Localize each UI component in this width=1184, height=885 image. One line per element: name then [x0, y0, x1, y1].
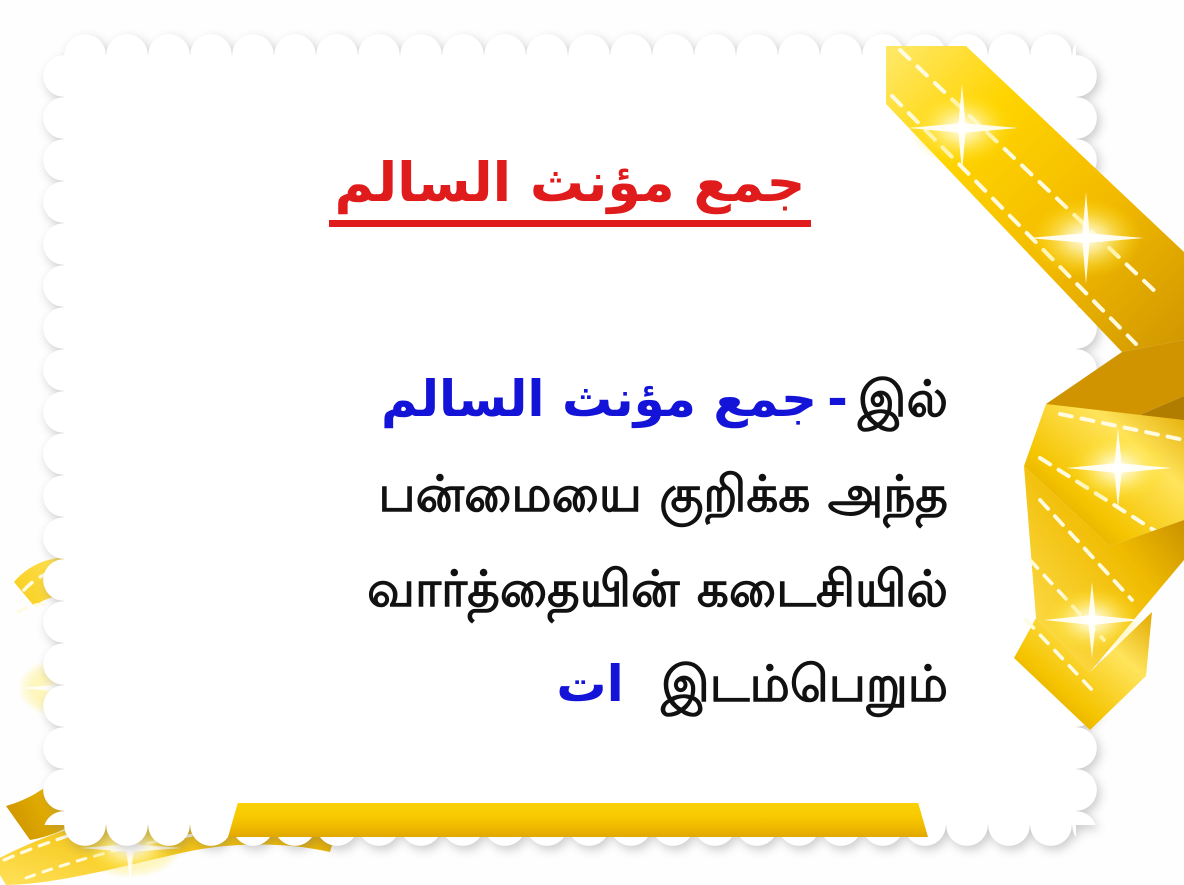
gold-bottom-bar [228, 803, 928, 837]
slide-canvas: جمع مؤنث السالم இல்-جمع مؤنث السالم பன்ம… [0, 0, 1184, 885]
body-line-1: இல்-جمع مؤنث السالم [196, 352, 948, 447]
line-4-spacer [624, 637, 661, 732]
card-title: جمع مؤنث السالم [329, 155, 812, 227]
line-4-arabic: ات [556, 637, 623, 732]
line-3-tamil: வார்த்தையின் கடைசியில் [367, 542, 948, 637]
line-2-tamil: பன்மையை குறிக்க அந்த [378, 447, 948, 542]
body-line-3: வார்த்தையின் கடைசியில் [196, 542, 948, 637]
title-container: جمع مؤنث السالم [64, 55, 1076, 227]
body-line-2: பன்மையை குறிக்க அந்த [196, 447, 948, 542]
line-1-separator: - [817, 352, 858, 447]
body-text-block: இல்-جمع مؤنث السالم பன்மையை குறிக்க அந்த… [196, 352, 948, 732]
line-4-tamil: இடம்பெறும் [661, 637, 948, 732]
card-content: جمع مؤنث السالم இல்-جمع مؤنث السالم பன்ம… [0, 0, 1184, 885]
line-1-tamil: இல் [858, 352, 948, 447]
line-1-arabic: جمع مؤنث السالم [381, 352, 817, 447]
body-line-4: இடம்பெறும் ات [196, 637, 948, 732]
